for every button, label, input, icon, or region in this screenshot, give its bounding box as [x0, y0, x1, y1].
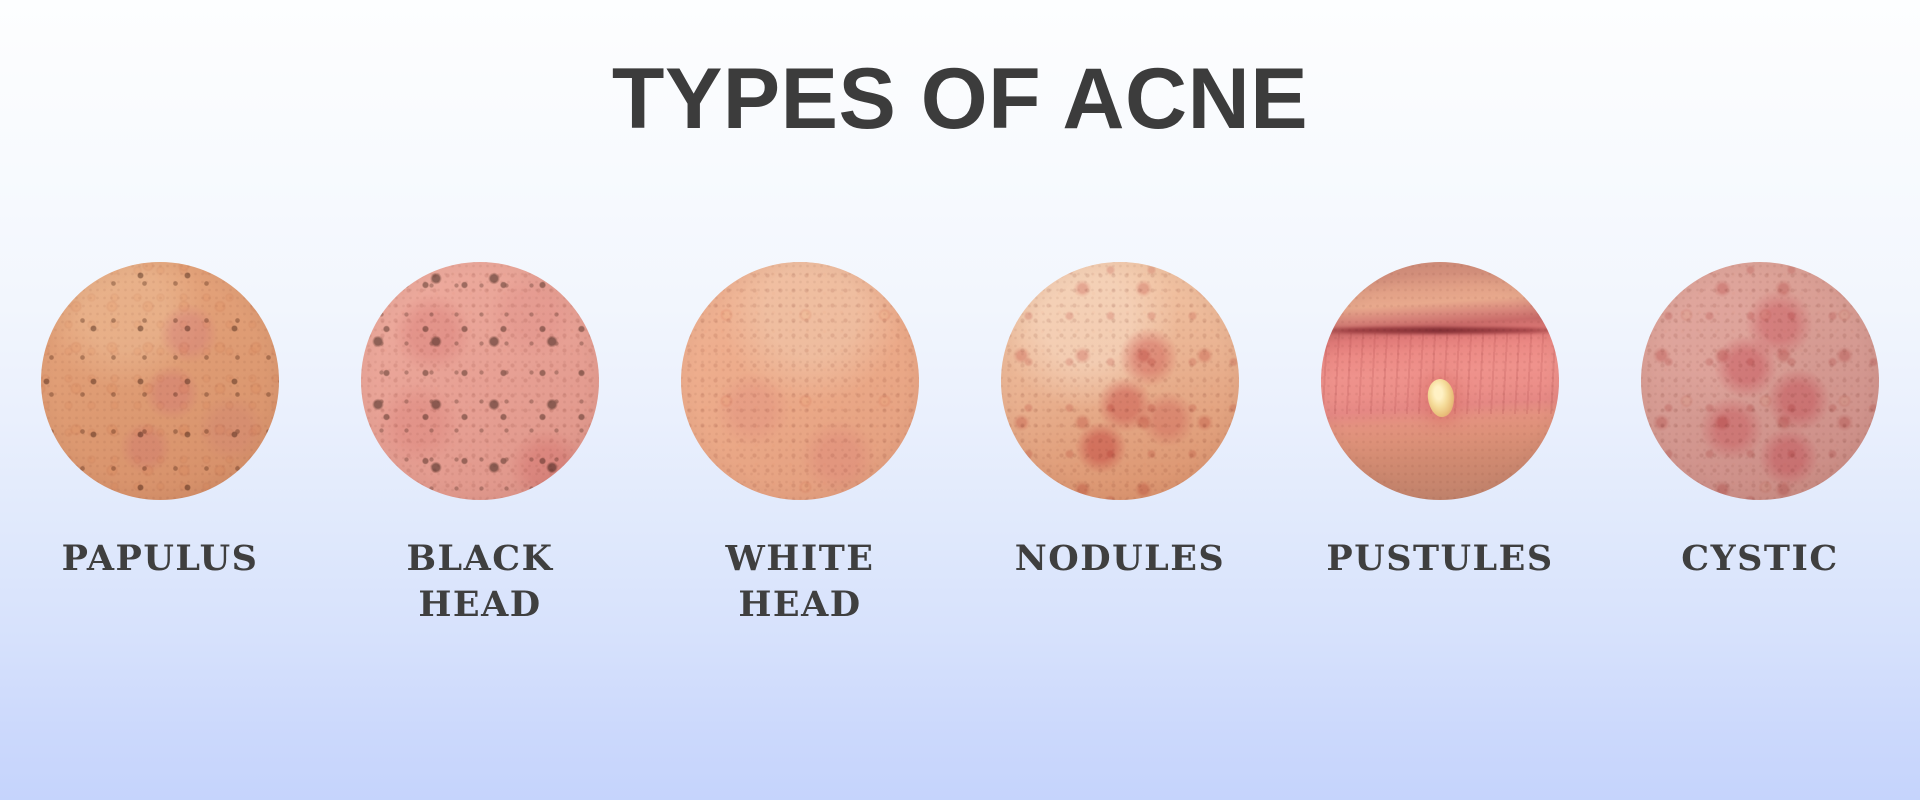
acne-type-card-blackhead: BLACK HEAD — [330, 262, 630, 628]
acne-type-card-pustules: PUSTULES — [1290, 262, 1590, 582]
acne-types-infographic: TYPES OF ACNE PAPULUS BLACK HEAD — [0, 0, 1920, 800]
whitehead-label: WHITE HEAD — [726, 536, 875, 628]
whitehead-fine-grain — [681, 262, 919, 500]
acne-type-card-cystic: CYSTIC — [1610, 262, 1910, 582]
acne-type-card-papulus: PAPULUS — [10, 262, 310, 582]
pustules-label: PUSTULES — [1326, 536, 1553, 582]
nodules-label: NODULES — [1015, 536, 1225, 582]
papulus-fine-grain — [41, 262, 279, 500]
acne-type-card-whitehead: WHITE HEAD — [650, 262, 950, 628]
acne-type-card-nodules: NODULES — [970, 262, 1270, 582]
blackhead-photo — [361, 262, 599, 500]
acne-type-row: PAPULUS BLACK HEAD WHITE HEAD — [0, 262, 1920, 628]
cystic-fine-grain — [1641, 262, 1879, 500]
page-title: TYPES OF ACNE — [0, 56, 1920, 142]
papulus-photo — [41, 262, 279, 500]
blackhead-fine-grain — [361, 262, 599, 500]
cystic-photo — [1641, 262, 1879, 500]
cystic-label: CYSTIC — [1681, 536, 1838, 582]
nodules-photo — [1001, 262, 1239, 500]
papulus-label: PAPULUS — [62, 536, 259, 582]
blackhead-label: BLACK HEAD — [406, 536, 553, 628]
whitehead-photo — [681, 262, 919, 500]
nodules-fine-grain — [1001, 262, 1239, 500]
pustules-photo — [1321, 262, 1559, 500]
